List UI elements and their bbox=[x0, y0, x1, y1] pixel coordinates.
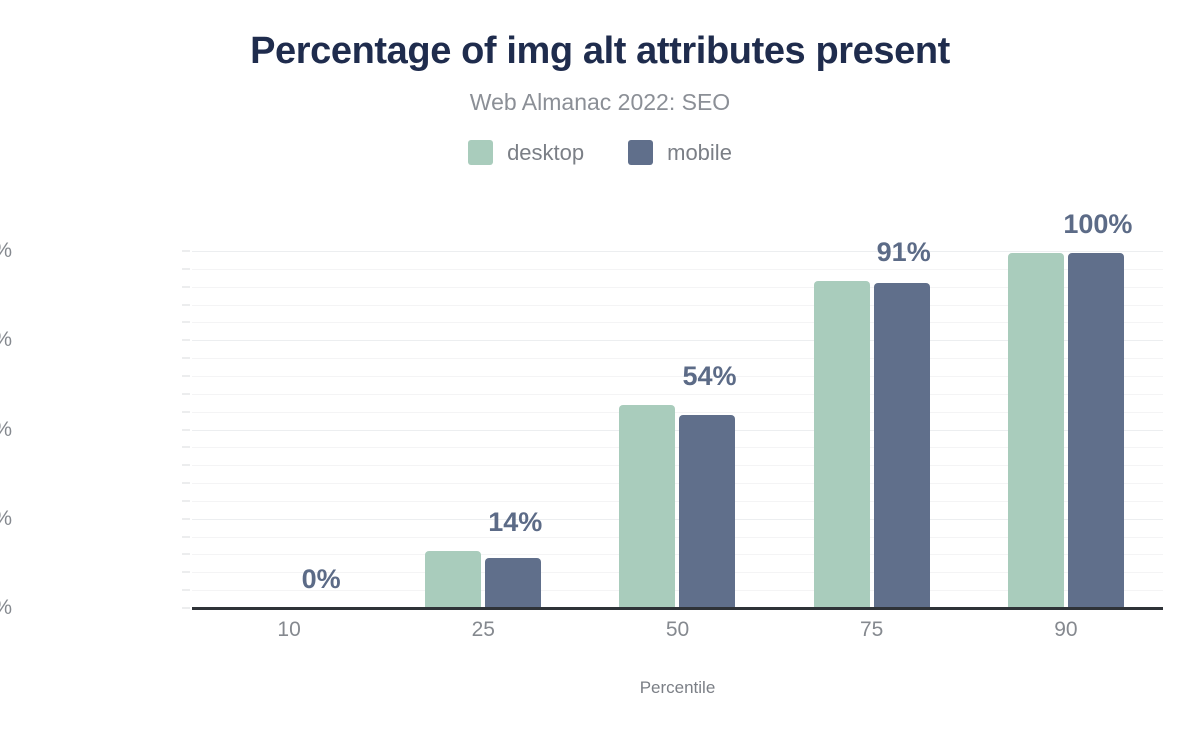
bar-desktop-25[interactable] bbox=[425, 551, 481, 608]
chart-legend: desktop mobile bbox=[0, 140, 1200, 165]
chart-container: Percentage of img alt attributes present… bbox=[0, 0, 1200, 742]
y-axis-tick-label: 0% bbox=[0, 596, 12, 620]
bar-mobile-75[interactable] bbox=[874, 283, 930, 608]
y-axis-tick-mark bbox=[182, 393, 190, 394]
chart-subtitle: Web Almanac 2022: SEO bbox=[0, 89, 1200, 116]
y-axis-tick-mark bbox=[182, 572, 190, 573]
y-axis-tick-mark bbox=[182, 518, 190, 519]
x-axis-tick-label: 75 bbox=[812, 618, 932, 642]
y-axis-tick-label: 50% bbox=[0, 418, 12, 442]
plot-area bbox=[192, 251, 1163, 608]
bar-desktop-90[interactable] bbox=[1008, 253, 1064, 608]
bar-group bbox=[580, 251, 774, 608]
y-axis-tick-mark bbox=[182, 268, 190, 269]
bar-desktop-75[interactable] bbox=[814, 281, 870, 608]
bar-value-label: 91% bbox=[824, 237, 984, 268]
y-axis-tick-mark bbox=[182, 304, 190, 305]
y-axis-tick-mark bbox=[182, 286, 190, 287]
y-axis-tick-label: 75% bbox=[0, 328, 12, 352]
y-axis-tick-mark bbox=[182, 411, 190, 412]
y-axis-tick-mark bbox=[182, 322, 190, 323]
legend-swatch-desktop bbox=[468, 140, 493, 165]
y-axis-tick-mark bbox=[182, 251, 190, 252]
bar-value-label: 0% bbox=[241, 564, 401, 595]
y-axis-tick-mark bbox=[182, 483, 190, 484]
bar-mobile-25[interactable] bbox=[485, 558, 541, 608]
legend-label-mobile: mobile bbox=[667, 142, 732, 164]
bar-group bbox=[775, 251, 969, 608]
y-axis-tick-label: 25% bbox=[0, 507, 12, 531]
y-axis-tick-mark bbox=[182, 554, 190, 555]
y-axis-tick-label: 100% bbox=[0, 239, 12, 263]
x-axis-tick-label: 25 bbox=[423, 618, 543, 642]
bar-mobile-50[interactable] bbox=[679, 415, 735, 608]
y-axis-tick-mark bbox=[182, 429, 190, 430]
x-axis-title: Percentile bbox=[192, 678, 1163, 698]
y-axis-tick-mark bbox=[182, 358, 190, 359]
bar-value-label: 54% bbox=[630, 361, 790, 392]
bar-value-label: 14% bbox=[435, 507, 595, 538]
y-axis-tick-mark bbox=[182, 447, 190, 448]
y-axis-tick-mark bbox=[182, 590, 190, 591]
bar-group bbox=[969, 251, 1163, 608]
y-axis-tick-mark bbox=[182, 536, 190, 537]
bar-mobile-90[interactable] bbox=[1068, 253, 1124, 608]
legend-item-mobile[interactable]: mobile bbox=[628, 140, 732, 165]
y-axis-tick-mark bbox=[182, 340, 190, 341]
y-axis-tick-mark bbox=[182, 465, 190, 466]
x-axis-tick-label: 50 bbox=[618, 618, 738, 642]
bar-desktop-50[interactable] bbox=[619, 405, 675, 608]
x-axis-tick-label: 10 bbox=[229, 618, 349, 642]
bar-value-label: 100% bbox=[1018, 209, 1178, 240]
x-axis-tick-label: 90 bbox=[1006, 618, 1126, 642]
bar-group bbox=[386, 251, 580, 608]
y-axis-tick-mark bbox=[182, 500, 190, 501]
x-axis-line bbox=[192, 607, 1163, 610]
legend-item-desktop[interactable]: desktop bbox=[468, 140, 584, 165]
y-axis-tick-mark bbox=[182, 375, 190, 376]
y-axis-tick-mark bbox=[182, 608, 190, 609]
legend-label-desktop: desktop bbox=[507, 142, 584, 164]
chart-title: Percentage of img alt attributes present bbox=[0, 30, 1200, 73]
legend-swatch-mobile bbox=[628, 140, 653, 165]
bar-group bbox=[192, 251, 386, 608]
